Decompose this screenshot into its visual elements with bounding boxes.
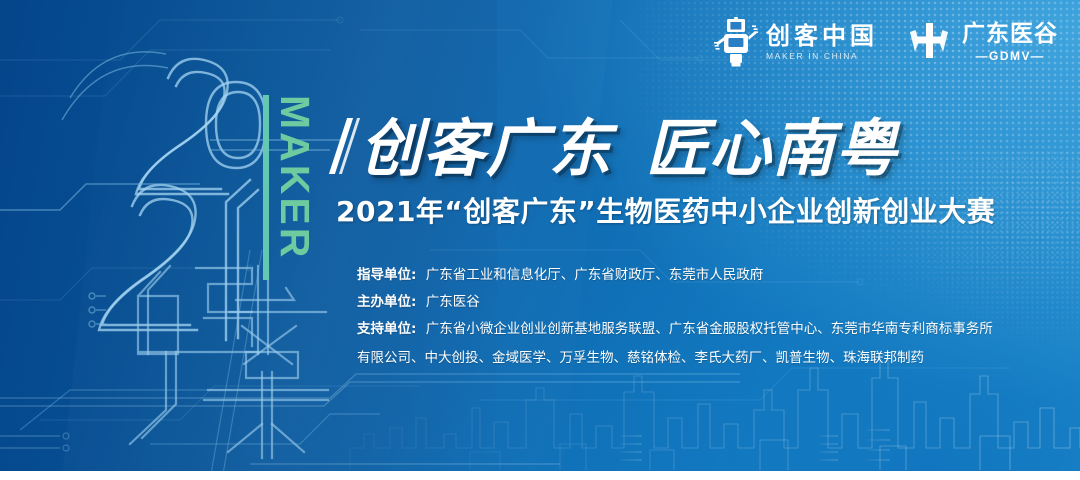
maker-vertical-decoration: MAKER [263,95,315,280]
main-title-part1: 创客广东 [360,118,612,180]
logo-gdmv-zh: 广东医谷 [962,23,1058,46]
organizer-label: 指导单位: [357,267,416,283]
logo-gdmv[interactable]: 广东医谷 —GDMV— [904,20,1058,64]
main-title-part2: 匠心南粤 [646,118,898,180]
organizer-value: 广东省小微企业创业创新基地服务联盟、广东省金服股权托管中心、东莞市华南专利商标事… [426,321,993,337]
logo-maker-in-china-en: MAKER IN CHINA [766,52,878,61]
slash-decoration-icon [336,118,356,174]
robot-mascot-icon [714,17,758,67]
maker-vertical-text: MAKER [274,95,315,260]
maker-accent-bar [263,95,269,280]
logo-row: 创客中国 MAKER IN CHINA 广东医谷 —GDMV— [714,17,1058,67]
title-block: 创客广东 匠心南粤 2021年“创客广东”生物医药中小企业创新创业大赛 [336,114,986,230]
logo-maker-in-china[interactable]: 创客中国 MAKER IN CHINA [714,17,878,67]
bottom-white-strip [0,471,1080,480]
organizer-value: 广东省工业和信息化厅、广东省财政厅、东莞市人民政府 [426,267,764,283]
logo-maker-in-china-text: 创客中国 MAKER IN CHINA [766,24,878,61]
organizer-row: 指导单位: 广东省工业和信息化厅、广东省财政厅、东莞市人民政府 [357,262,1017,289]
logo-maker-in-china-zh: 创客中国 [766,24,878,48]
logo-gdmv-en: —GDMV— [962,50,1058,62]
organizer-label: 支持单位: [357,321,416,337]
organizer-label: 主办单位: [357,294,416,310]
organizer-row: 支持单位: 广东省小微企业创业创新基地服务联盟、广东省金服股权托管中心、东莞市华… [357,316,1017,343]
organizer-value: 广东医谷 [426,294,480,310]
main-title: 创客广东 匠心南粤 [336,114,986,180]
medical-cross-icon [904,20,954,64]
organizer-list: 指导单位: 广东省工业和信息化厅、广东省财政厅、东莞市人民政府 主办单位: 广东… [357,262,1017,372]
subtitle: 2021年“创客广东”生物医药中小企业创新创业大赛 [336,190,986,230]
background-left-shade [0,0,497,480]
organizer-continuation: 有限公司、中大创投、金域医学、万孚生物、慈铭体检、李氏大药厂、凯普生物、珠海联邦… [357,345,1017,372]
organizer-row: 主办单位: 广东医谷 [357,289,1017,316]
event-poster-banner: MAKER [0,0,1080,480]
logo-gdmv-text: 广东医谷 —GDMV— [962,23,1058,62]
